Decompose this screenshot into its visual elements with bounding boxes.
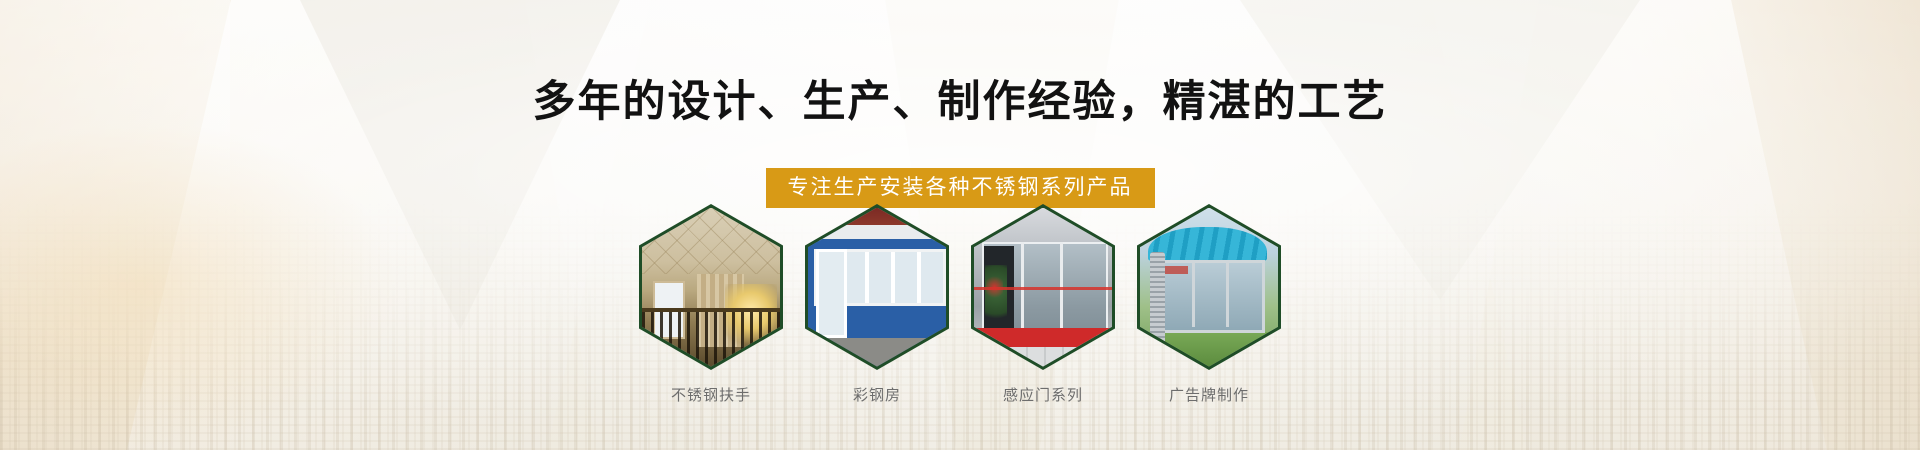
hexagon-frame (971, 204, 1115, 370)
stainless-steel-handrail-photo (642, 208, 780, 367)
colour-steel-house-photo (808, 208, 946, 367)
hexagon-frame (805, 204, 949, 370)
product-label: 彩钢房 (853, 384, 901, 405)
product-item-sensor-door[interactable]: 感应门系列 (971, 204, 1115, 405)
automatic-sensor-door-photo (974, 208, 1112, 367)
product-item-billboard[interactable]: 广告牌制作 (1137, 204, 1281, 405)
billboard-production-photo (1140, 208, 1278, 367)
banner-subtitle-badge: 专注生产安装各种不锈钢系列产品 (766, 168, 1155, 208)
product-label: 感应门系列 (1003, 384, 1083, 405)
product-label: 不锈钢扶手 (671, 384, 751, 405)
product-item-colour-steel-house[interactable]: 彩钢房 (805, 204, 949, 405)
promo-banner: 多年的设计、生产、制作经验，精湛的工艺 专注生产安装各种不锈钢系列产品 不锈钢扶… (0, 0, 1920, 450)
hexagon-frame (639, 204, 783, 370)
hexagon-frame (1137, 204, 1281, 370)
product-item-handrail[interactable]: 不锈钢扶手 (639, 204, 783, 405)
banner-content: 多年的设计、生产、制作经验，精湛的工艺 专注生产安装各种不锈钢系列产品 不锈钢扶… (0, 0, 1920, 450)
product-label: 广告牌制作 (1169, 384, 1249, 405)
banner-headline: 多年的设计、生产、制作经验，精湛的工艺 (0, 78, 1920, 126)
product-hexagon-row: 不锈钢扶手 彩钢房 (0, 204, 1920, 405)
banner-subtitle-wrap: 专注生产安装各种不锈钢系列产品 (0, 168, 1920, 208)
